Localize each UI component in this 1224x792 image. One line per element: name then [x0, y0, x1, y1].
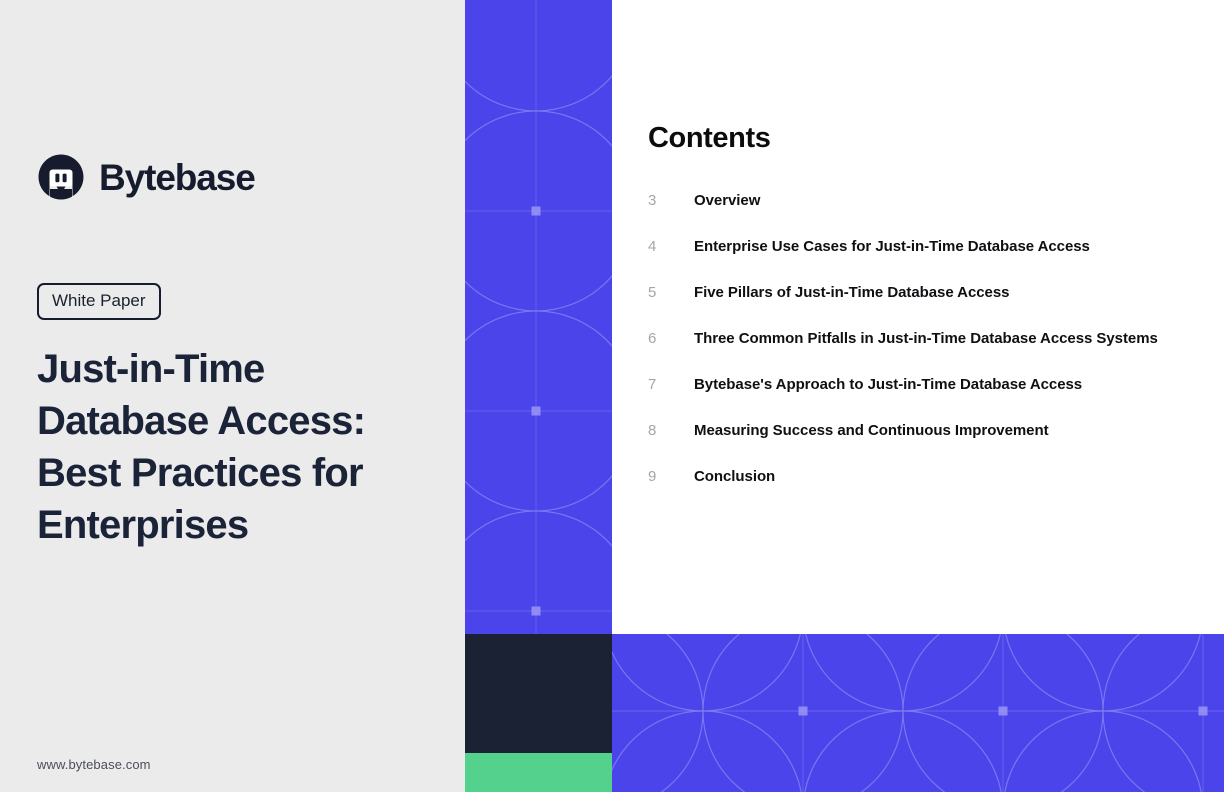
whitepaper-cover-page: Bytebase White Paper Just-in-Time Databa… [0, 0, 1224, 792]
toc-entry-label: Conclusion [694, 468, 775, 485]
toc-entry-label: Measuring Success and Continuous Improve… [694, 422, 1049, 439]
decorative-blue-strip [465, 0, 612, 634]
toc-entry[interactable]: 4 Enterprise Use Cases for Just-in-Time … [648, 238, 1208, 284]
toc-page-number: 5 [648, 284, 694, 301]
toc-entry[interactable]: 6 Three Common Pitfalls in Just-in-Time … [648, 330, 1208, 376]
table-of-contents: 3 Overview 4 Enterprise Use Cases for Ju… [648, 192, 1208, 514]
brand-wordmark: Bytebase [99, 159, 255, 196]
decorative-green-block [465, 753, 612, 792]
toc-page-number: 8 [648, 422, 694, 439]
document-type-badge: White Paper [37, 283, 161, 320]
contents-heading: Contents [648, 122, 770, 155]
brand-logo: Bytebase [37, 153, 255, 201]
contents-panel: Contents 3 Overview 4 Enterprise Use Cas… [612, 0, 1224, 634]
decorative-blue-footer [612, 634, 1224, 792]
toc-entry[interactable]: 7 Bytebase's Approach to Just-in-Time Da… [648, 376, 1208, 422]
toc-entry-label: Three Common Pitfalls in Just-in-Time Da… [694, 330, 1158, 347]
toc-entry[interactable]: 8 Measuring Success and Continuous Impro… [648, 422, 1208, 468]
toc-entry[interactable]: 5 Five Pillars of Just-in-Time Database … [648, 284, 1208, 330]
toc-entry[interactable]: 3 Overview [648, 192, 1208, 238]
page-title: Just-in-Time Database Access: Best Pract… [37, 343, 437, 551]
toc-page-number: 9 [648, 468, 694, 485]
site-url: www.bytebase.com [37, 757, 151, 772]
toc-entry-label: Bytebase's Approach to Just-in-Time Data… [694, 376, 1082, 393]
bytebase-logo-icon [37, 153, 85, 201]
toc-entry[interactable]: 9 Conclusion [648, 468, 1208, 514]
toc-page-number: 6 [648, 330, 694, 347]
toc-entry-label: Overview [694, 192, 760, 209]
toc-entry-label: Enterprise Use Cases for Just-in-Time Da… [694, 238, 1090, 255]
toc-page-number: 3 [648, 192, 694, 209]
toc-page-number: 4 [648, 238, 694, 255]
decorative-navy-block [465, 634, 612, 753]
toc-entry-label: Five Pillars of Just-in-Time Database Ac… [694, 284, 1009, 301]
cover-left-panel: Bytebase White Paper Just-in-Time Databa… [0, 0, 465, 792]
toc-page-number: 7 [648, 376, 694, 393]
